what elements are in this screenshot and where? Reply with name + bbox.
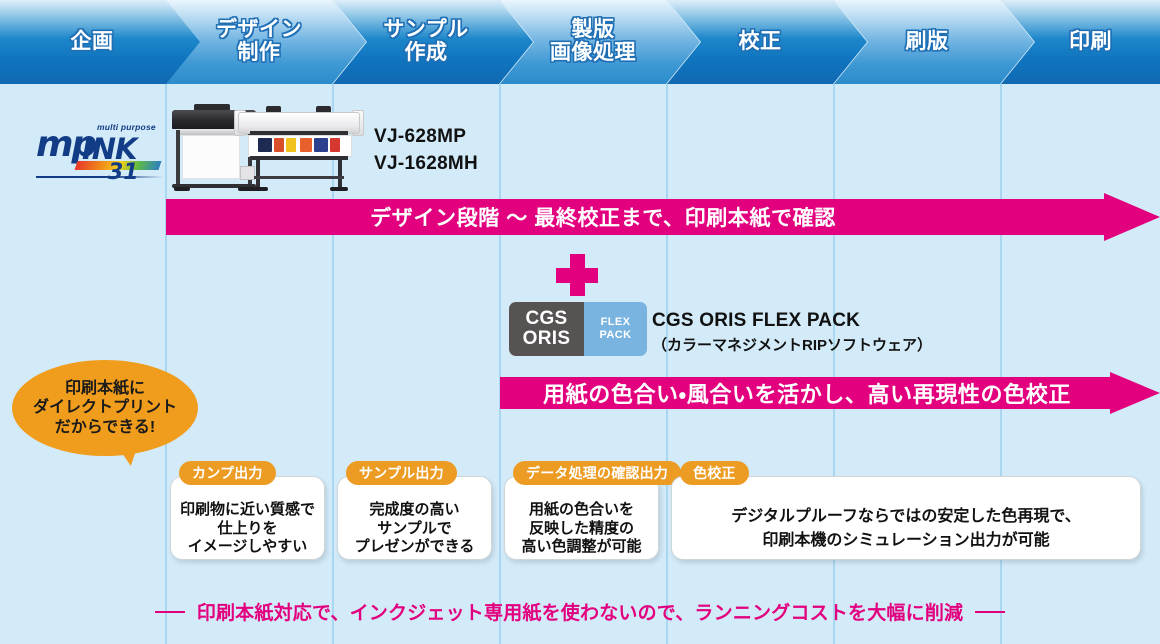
callout-line: だからできる! [55,418,156,438]
flex-pack-line2: PACK [600,329,632,342]
workflow-step-label: 印刷 [1069,31,1126,54]
column-divider [1000,84,1002,644]
workflow-coverage-arrow-color-proof: 用紙の色合い・風合いを活かし、高い再現性の色校正 [500,372,1160,414]
print-sample-swatch [300,138,312,152]
benefit-card-line: 印刷本機のシミュレーション出力が可能 [762,529,1049,553]
workflow-step-label: 企画 [71,31,128,54]
callout-line: 印刷本紙に [65,379,145,399]
workflow-step-label: デザイン 制作 [216,19,316,64]
benefit-card-pill: サンプル出力 [346,461,457,485]
print-sample-swatch [274,138,284,152]
benefit-card-line: 用紙の色合いを [529,501,634,520]
arrow-label: 用紙の色合い・風合いを活かし、高い再現性の色校正 [543,377,1071,409]
workflow-step-header: 企画 デザイン 制作 サンプル 作成 製版 画像処理 校正 刷版 印刷 [0,0,1160,84]
benefit-card-line: プレゼンができる [355,538,475,557]
printer-leg-left [256,156,260,190]
printer-foot-right [330,187,348,191]
printer-paper-sheet [182,135,240,179]
cgs-logo-line1: CGS [525,309,567,329]
caption-rule-right [975,611,1005,613]
callout-line: ダイレクトプリント [33,398,177,418]
benefit-card: 色校正 デジタルプルーフならではの安定した色再現で、 印刷本機のシミュレーション… [671,476,1141,560]
arrow-label: デザイン段階 〜 最終校正まで、印刷本紙で確認 [370,202,836,232]
printer-model-line: VJ-1628MH [374,151,478,178]
benefit-card-line: イメージしやすい [188,538,308,557]
benefit-card-line: 印刷物に近い質感で [180,501,315,520]
benefit-card-body: 完成度の高い サンプルで プレゼンができる [338,499,491,559]
workflow-step-kikaku[interactable]: 企画 [0,0,202,84]
caption-rule-left [155,611,185,613]
workflow-step-label: 製版 画像処理 [550,19,650,64]
workflow-coverage-arrow-primary: デザイン段階 〜 最終校正まで、印刷本紙で確認 [166,193,1160,241]
column-divider [666,84,668,644]
benefit-card-line: サンプルで [377,520,452,539]
benefit-card-line: 高い色調整が可能 [521,538,641,557]
printer-model-names: VJ-628MP VJ-1628MH [374,124,478,178]
benefit-card-line: 反映した精度の [529,520,634,539]
cgs-oris-logo: CGS ORIS FLEX PACK [509,302,647,356]
print-sample-swatch [314,138,328,152]
benefit-card-line: 完成度の高い [369,501,459,520]
printer-model-line: VJ-628MP [374,124,478,151]
column-divider [833,84,835,644]
print-sample-swatch [286,138,296,152]
flex-pack-badge: FLEX PACK [584,302,647,356]
software-subtitle: （カラーマネジメントRIPソフトウェア） [652,334,932,355]
benefit-card-pill: カンプ出力 [179,461,276,485]
plus-icon [556,254,598,296]
printer-foot-left [250,187,268,191]
benefit-card: データ処理の確認出力 用紙の色合いを 反映した精度の 高い色調整が可能 [504,476,659,560]
callout-bubble-text: 印刷本紙に ダイレクトプリント だからできる! [12,360,198,456]
printer-rail-bottom [254,176,344,179]
direct-print-callout-bubble: 印刷本紙に ダイレクトプリント だからできる! [12,360,198,456]
software-title: CGS ORIS FLEX PACK [652,310,932,332]
benefit-card-pill: 色校正 [680,461,749,485]
software-caption: CGS ORIS FLEX PACK （カラーマネジメントRIPソフトウェア） [652,310,932,355]
workflow-step-label: 刷版 [906,31,963,54]
logo-number: 31 [108,160,139,185]
wide-format-printer-image [238,104,360,192]
flex-pack-line1: FLEX [601,316,631,329]
benefit-card-body: 印刷物に近い質感で 仕上りを イメージしやすい [171,499,324,559]
printer-foot-left [174,187,190,191]
printer-rail-top [250,156,348,160]
printer-leg-left [176,130,180,186]
benefit-card-body: デジタルプルーフならではの安定した色再現で、 印刷本機のシミュレーション出力が可… [672,499,1140,559]
logo-underline [36,176,164,178]
caption-text: 印刷本紙対応で、インクジェット専用紙を使わないので、ランニングコストを大幅に削減 [197,598,963,625]
logo-multi-purpose-text: multi purpose [97,122,156,132]
cost-saving-caption: 印刷本紙対応で、インクジェット専用紙を使わないので、ランニングコストを大幅に削減 [0,598,1160,625]
printer-leg-right [338,156,342,190]
benefit-card-line: デジタルプルーフならではの安定した色再現で、 [731,505,1081,529]
cgs-logo-line2: ORIS [523,329,571,349]
cgs-oris-badge: CGS ORIS [509,302,584,356]
benefit-card-line: 仕上りを [217,520,277,539]
mp-ink-logo: multi purpose mp INK 31 [36,120,164,182]
print-sample-swatch [330,138,340,152]
workflow-step-label: サンプル 作成 [383,19,482,64]
benefit-card-body: 用紙の色合いを 反映した精度の 高い色調整が可能 [505,499,658,559]
workflow-diagram: 企画 デザイン 制作 サンプル 作成 製版 画像処理 校正 刷版 印刷 mult… [0,0,1160,644]
column-divider [499,84,501,644]
print-sample-swatch [258,138,272,152]
benefit-card-pill: データ処理の確認出力 [513,461,681,485]
benefit-card: カンプ出力 印刷物に近い質感で 仕上りを イメージしやすい [170,476,325,560]
workflow-step-label: 校正 [739,31,796,54]
benefit-card: サンプル出力 完成度の高い サンプルで プレゼンができる [337,476,492,560]
plus-icon-vertical [570,254,585,296]
